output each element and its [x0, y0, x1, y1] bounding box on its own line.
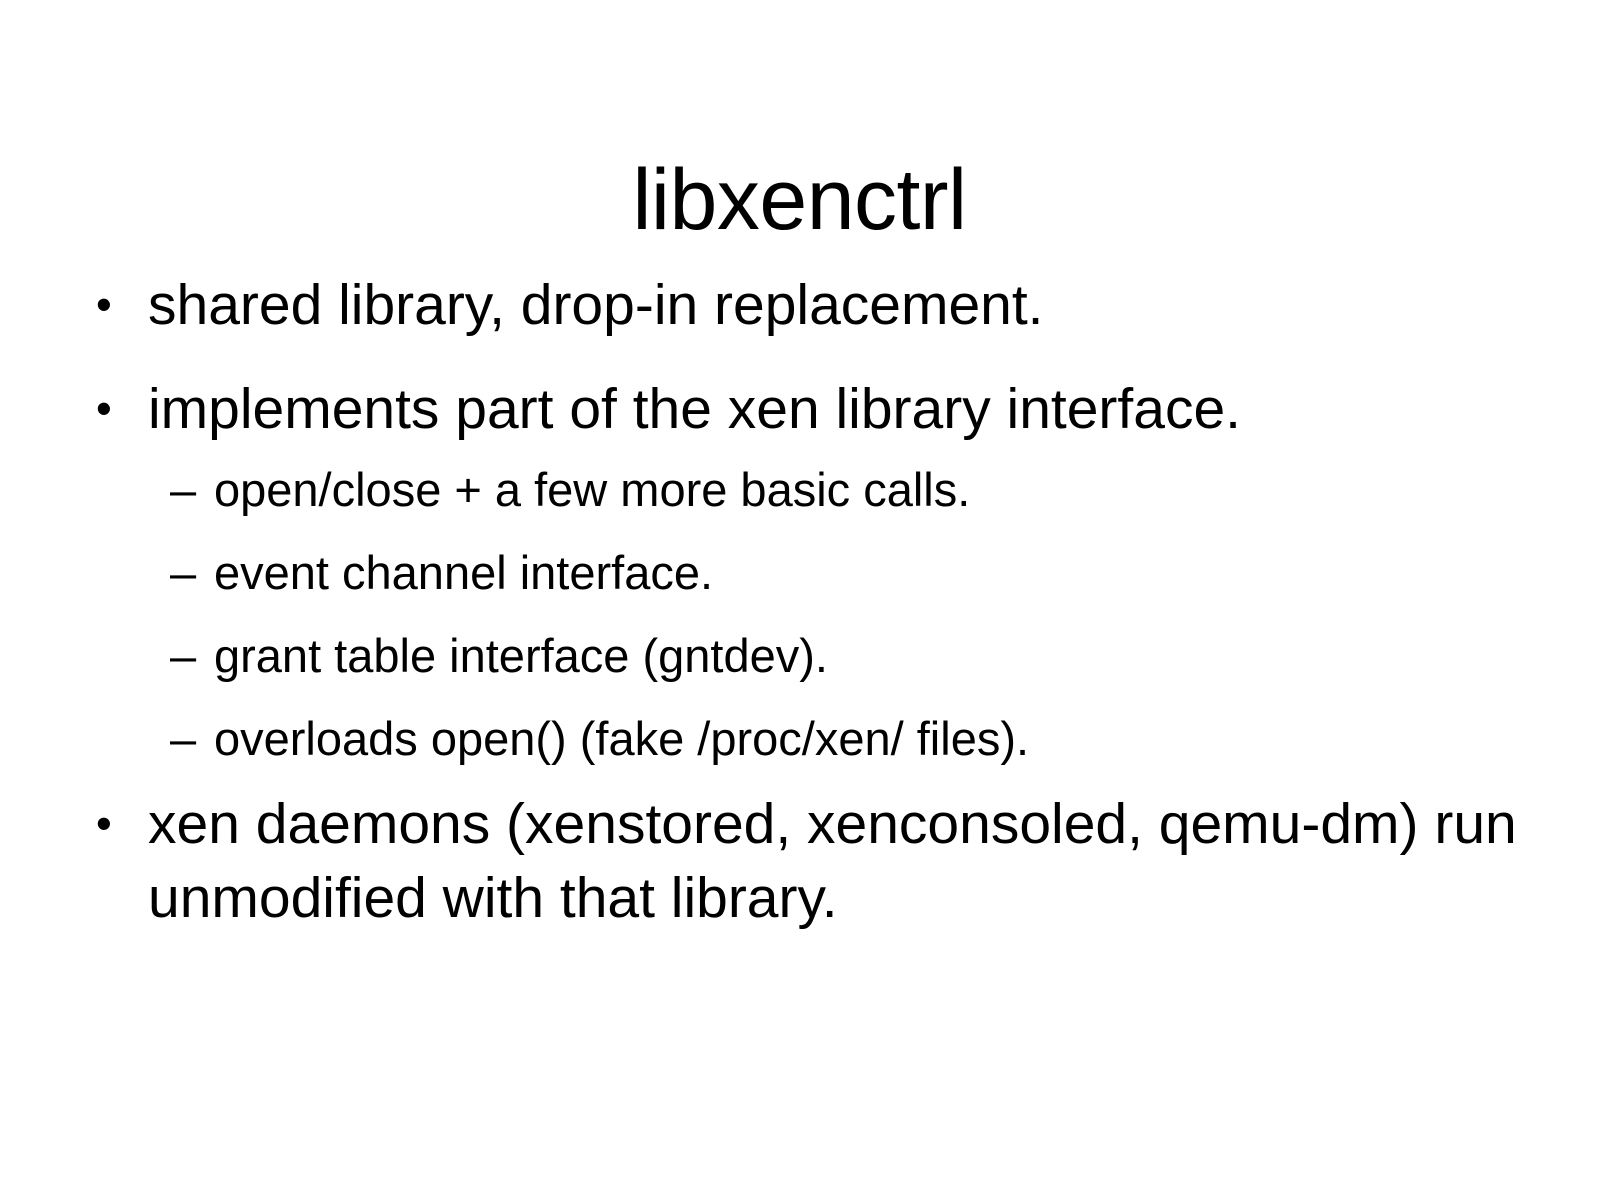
sub-bullet-text: grant table interface (gntdev). [214, 626, 1518, 686]
presentation-slide: libxenctrl • shared library, drop-in rep… [0, 0, 1599, 1199]
bullet-dash-icon: – [170, 543, 200, 603]
bullet-dot-icon: • [96, 787, 120, 861]
sub-bullet-text: open/close + a few more basic calls. [214, 460, 1518, 520]
slide-body: • shared library, drop-in replacement. •… [88, 268, 1518, 935]
slide-title: libxenctrl [0, 150, 1599, 250]
sub-bullet-item: – event channel interface. [170, 543, 1518, 603]
bullet-text: xen daemons (xenstored, xenconsoled, qem… [148, 787, 1518, 935]
bullet-text: shared library, drop-in replacement. [148, 268, 1518, 342]
bullet-item: • implements part of the xen library int… [88, 372, 1518, 769]
bullet-dot-icon: • [96, 372, 120, 446]
bullet-dash-icon: – [170, 709, 200, 769]
bullet-item: • xen daemons (xenstored, xenconsoled, q… [88, 787, 1518, 935]
sub-bullet-item: – grant table interface (gntdev). [170, 626, 1518, 686]
sub-bullet-item: – open/close + a few more basic calls. [170, 460, 1518, 520]
bullet-dot-icon: • [96, 268, 120, 342]
sub-bullet-item: – overloads open() (fake /proc/xen/ file… [170, 709, 1518, 769]
bullet-dash-icon: – [170, 460, 200, 520]
bullet-dash-icon: – [170, 626, 200, 686]
sub-bullet-text: overloads open() (fake /proc/xen/ files)… [214, 709, 1518, 769]
bullet-list-level-2: – open/close + a few more basic calls. –… [148, 460, 1518, 769]
bullet-text: implements part of the xen library inter… [148, 372, 1518, 446]
bullet-list-level-1: • shared library, drop-in replacement. •… [88, 268, 1518, 935]
bullet-item: • shared library, drop-in replacement. [88, 268, 1518, 342]
sub-bullet-text: event channel interface. [214, 543, 1518, 603]
